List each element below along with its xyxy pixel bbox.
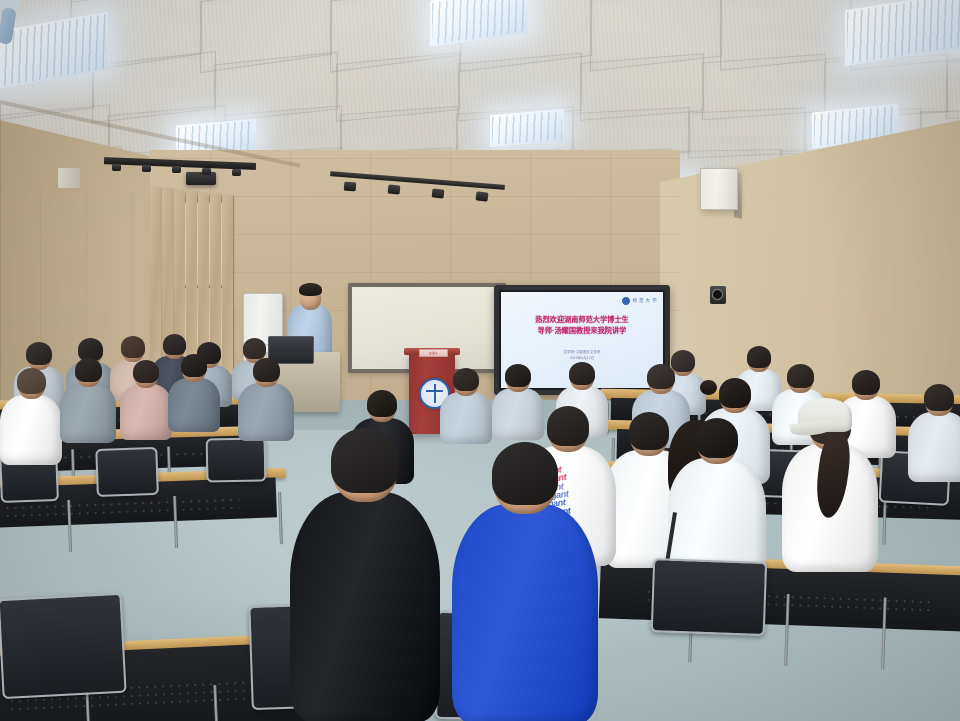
hair [181,354,207,377]
chair-backrest [95,447,159,497]
hair [17,368,46,394]
hair [924,384,954,411]
person-student-mid-left-3 [120,362,172,444]
chair[interactable] [651,558,763,632]
hair [852,370,880,395]
hair [253,358,280,382]
hair [75,358,102,382]
torso [290,492,440,721]
torso [238,383,294,441]
hair [26,342,52,365]
person-student-blue-shirt-foreground [452,444,598,721]
person-student-center-2 [440,370,492,448]
hair [719,378,751,408]
hair [163,334,186,355]
chair[interactable] [0,593,122,695]
torso [452,504,598,721]
chair-backrest [0,593,127,699]
person-student-mid-left-4 [168,356,220,436]
person-student-mid-left-5 [238,360,294,445]
torso [0,395,62,465]
hair [243,338,266,359]
hair [747,346,771,368]
torso [440,392,492,444]
torso [168,378,220,432]
hair [453,368,479,391]
person-student-plaid-shirt [60,360,116,447]
hair [629,412,669,450]
hair [492,442,558,505]
hair-bun [700,380,717,395]
torso [120,384,172,440]
person-student-right-5 [908,386,960,486]
chair-backrest [651,558,768,636]
hair [547,406,589,446]
chair[interactable] [95,447,155,493]
classroom-scene: 师 范 大 学 热烈欢迎湖南师范大学博士生 导师·汤耀国教授来我院讲学 文学院·… [0,0,960,721]
torso [60,383,116,443]
hair [331,428,399,493]
hair [505,364,531,387]
person-student-white-hoodie-left [0,370,62,469]
person-student-white-cap [782,406,878,578]
hair [696,418,738,458]
hair [647,364,675,389]
hair [787,364,814,388]
hair [367,390,397,417]
person-student-black-shirt-foreground [290,430,440,721]
hair [569,362,595,385]
hair [121,336,145,358]
torso [908,412,960,482]
hair [133,360,159,383]
